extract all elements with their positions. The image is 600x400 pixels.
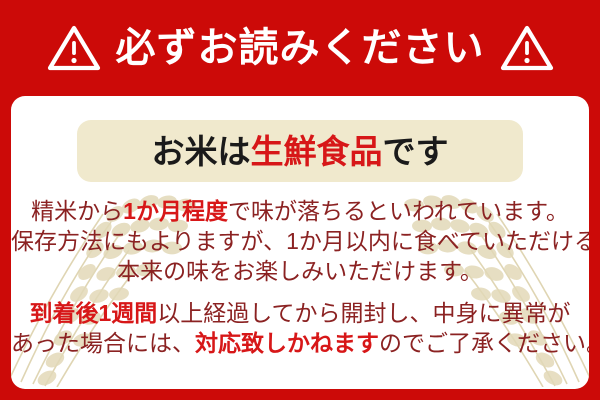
notice-line-4: 到着後1週間以上経過してから開封し、中身に異常が	[11, 298, 589, 328]
line1-part-a: 精米から	[31, 198, 123, 224]
line5-emphasis: 対応致しかねます	[195, 330, 379, 356]
notice-line-3: 本来の味をお楽しみいただけます。	[11, 256, 589, 286]
line5-part-a: あった場合には、	[11, 330, 195, 356]
body-panel: お米は生鮮食品です 精米から1か月程度で味が落ちるといわれています。 保存方法に…	[11, 96, 589, 389]
title-lead: お米は	[152, 133, 251, 170]
title-tail: です	[383, 133, 449, 170]
title-text: お米は生鮮食品です	[152, 135, 449, 168]
line5-part-c: のでご了承ください。	[379, 330, 589, 356]
header-band: 必ずお読みください	[0, 0, 600, 96]
notice-copy: 精米から1か月程度で味が落ちるといわれています。 保存方法にもよりますが、1か月…	[11, 196, 589, 358]
line1-emphasis: 1か月程度	[123, 198, 228, 224]
notice-line-2: 保存方法にもよりますが、1か月以内に食べていただけると	[11, 226, 589, 256]
line1-highlight: 1か月程度	[123, 196, 228, 226]
notice-line-5: あった場合には、対応致しかねますのでご了承ください。	[11, 328, 589, 358]
line1-part-c: で味が落ちるといわれています。	[228, 198, 569, 224]
warning-triangle-icon	[499, 23, 555, 73]
header-title: 必ずお読みください	[116, 28, 485, 68]
warning-triangle-icon	[46, 23, 102, 73]
product-notice-banner: 必ずお読みください	[0, 0, 600, 400]
line4-emphasis: 到着後1週間	[29, 300, 157, 326]
line4-part-b: 以上経過してから開封し、中身に異常が	[157, 300, 570, 326]
line4-highlight: 到着後1週間	[29, 298, 157, 328]
notice-line-1: 精米から1か月程度で味が落ちるといわれています。	[11, 196, 589, 226]
title-accent: 生鮮食品	[251, 133, 383, 170]
title-box: お米は生鮮食品です	[77, 120, 523, 182]
